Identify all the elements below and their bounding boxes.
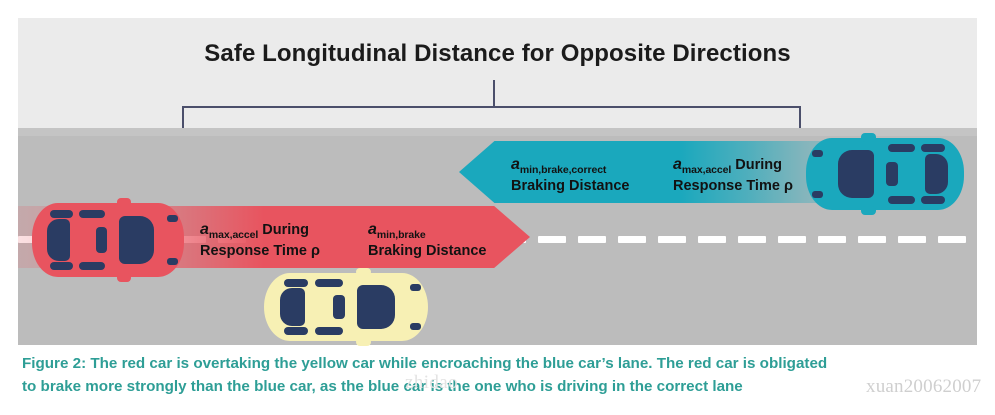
side-window-front-top bbox=[315, 279, 343, 286]
red-seg2-symbol: a bbox=[368, 221, 377, 238]
side-window-rear-top bbox=[50, 210, 73, 218]
blue-segment-2-label: amax,accel During Response Time ρ bbox=[673, 155, 793, 196]
car-body bbox=[806, 138, 964, 210]
side-window-front-bottom bbox=[79, 262, 105, 270]
car-body bbox=[264, 273, 428, 341]
roof-strip bbox=[96, 227, 107, 252]
red-seg2-line2: Braking Distance bbox=[368, 242, 486, 261]
lane-dash bbox=[858, 236, 886, 243]
road-top-shade bbox=[18, 128, 977, 136]
side-mirror bbox=[861, 133, 875, 142]
side-window-front-top bbox=[888, 144, 915, 152]
windshield bbox=[838, 150, 874, 198]
red-seg1-symbol: a bbox=[200, 221, 209, 238]
side-window-front-bottom bbox=[315, 327, 343, 334]
lane-dash bbox=[658, 236, 686, 243]
blue-seg2-symbol: a bbox=[673, 156, 682, 173]
windshield bbox=[119, 216, 154, 265]
watermark: xuan20062007 bbox=[866, 376, 981, 398]
headlight-top bbox=[410, 284, 421, 291]
headlight-bottom bbox=[812, 191, 823, 198]
side-mirror bbox=[117, 273, 131, 282]
side-window-rear-bottom bbox=[284, 327, 309, 334]
rear-window bbox=[280, 288, 305, 326]
side-mirror bbox=[356, 268, 371, 276]
watermark-faint: zhidao bbox=[405, 372, 458, 394]
lane-dash bbox=[818, 236, 846, 243]
rear-window bbox=[47, 219, 70, 260]
blue-seg2-subscript: max,accel bbox=[682, 164, 731, 176]
red-car bbox=[32, 203, 184, 277]
headlight-bottom bbox=[410, 323, 421, 330]
side-window-rear-bottom bbox=[921, 196, 945, 204]
red-seg1-subscript: max,accel bbox=[209, 229, 258, 241]
car-body bbox=[32, 203, 184, 277]
side-mirror bbox=[861, 206, 875, 215]
red-seg2-subscript: min,brake bbox=[377, 229, 426, 241]
headlight-top bbox=[167, 215, 178, 222]
figure-caption: Figure 2: The red car is overtaking the … bbox=[22, 352, 972, 398]
headlight-top bbox=[812, 150, 823, 157]
blue-seg1-symbol: a bbox=[511, 156, 520, 173]
rear-window bbox=[925, 154, 949, 194]
roof-strip bbox=[886, 162, 898, 186]
bracket-stem bbox=[493, 80, 495, 107]
yellow-car bbox=[264, 273, 428, 341]
figure-container: Safe Longitudinal Distance for Opposite … bbox=[0, 0, 995, 415]
bracket-horizontal bbox=[182, 106, 800, 108]
side-window-rear-bottom bbox=[50, 262, 73, 270]
side-mirror bbox=[117, 198, 131, 207]
caption-line-1: Figure 2: The red car is overtaking the … bbox=[22, 352, 972, 375]
lane-dash bbox=[778, 236, 806, 243]
caption-line-2: to brake more strongly than the blue car… bbox=[22, 375, 972, 398]
side-window-rear-top bbox=[284, 279, 309, 286]
red-seg1-line2: Response Time ρ bbox=[200, 242, 320, 261]
red-segment-1-label: amax,accel During Response Time ρ bbox=[200, 220, 320, 261]
lane-dash bbox=[938, 236, 966, 243]
side-window-front-bottom bbox=[888, 196, 915, 204]
blue-segment-1-label: amin,brake,correct Braking Distance bbox=[511, 155, 629, 196]
blue-seg1-line2: Braking Distance bbox=[511, 177, 629, 196]
roof-strip bbox=[333, 295, 345, 318]
lane-dash bbox=[898, 236, 926, 243]
lane-dash bbox=[698, 236, 726, 243]
blue-seg1-subscript: min,brake,correct bbox=[520, 164, 606, 176]
header-panel bbox=[18, 18, 977, 128]
blue-seg2-line2: Response Time ρ bbox=[673, 177, 793, 196]
blue-seg2-tail: During bbox=[731, 157, 782, 173]
lane-dash bbox=[578, 236, 606, 243]
red-segment-2-label: amin,brake Braking Distance bbox=[368, 220, 486, 261]
lane-dash bbox=[738, 236, 766, 243]
figure-title: Safe Longitudinal Distance for Opposite … bbox=[18, 40, 977, 68]
headlight-bottom bbox=[167, 258, 178, 265]
side-window-rear-top bbox=[921, 144, 945, 152]
blue-car bbox=[806, 138, 964, 210]
side-mirror bbox=[356, 338, 371, 346]
lane-dash bbox=[538, 236, 566, 243]
side-window-front-top bbox=[79, 210, 105, 218]
lane-dash bbox=[618, 236, 646, 243]
red-seg1-tail: During bbox=[258, 222, 309, 238]
windshield bbox=[357, 285, 395, 330]
